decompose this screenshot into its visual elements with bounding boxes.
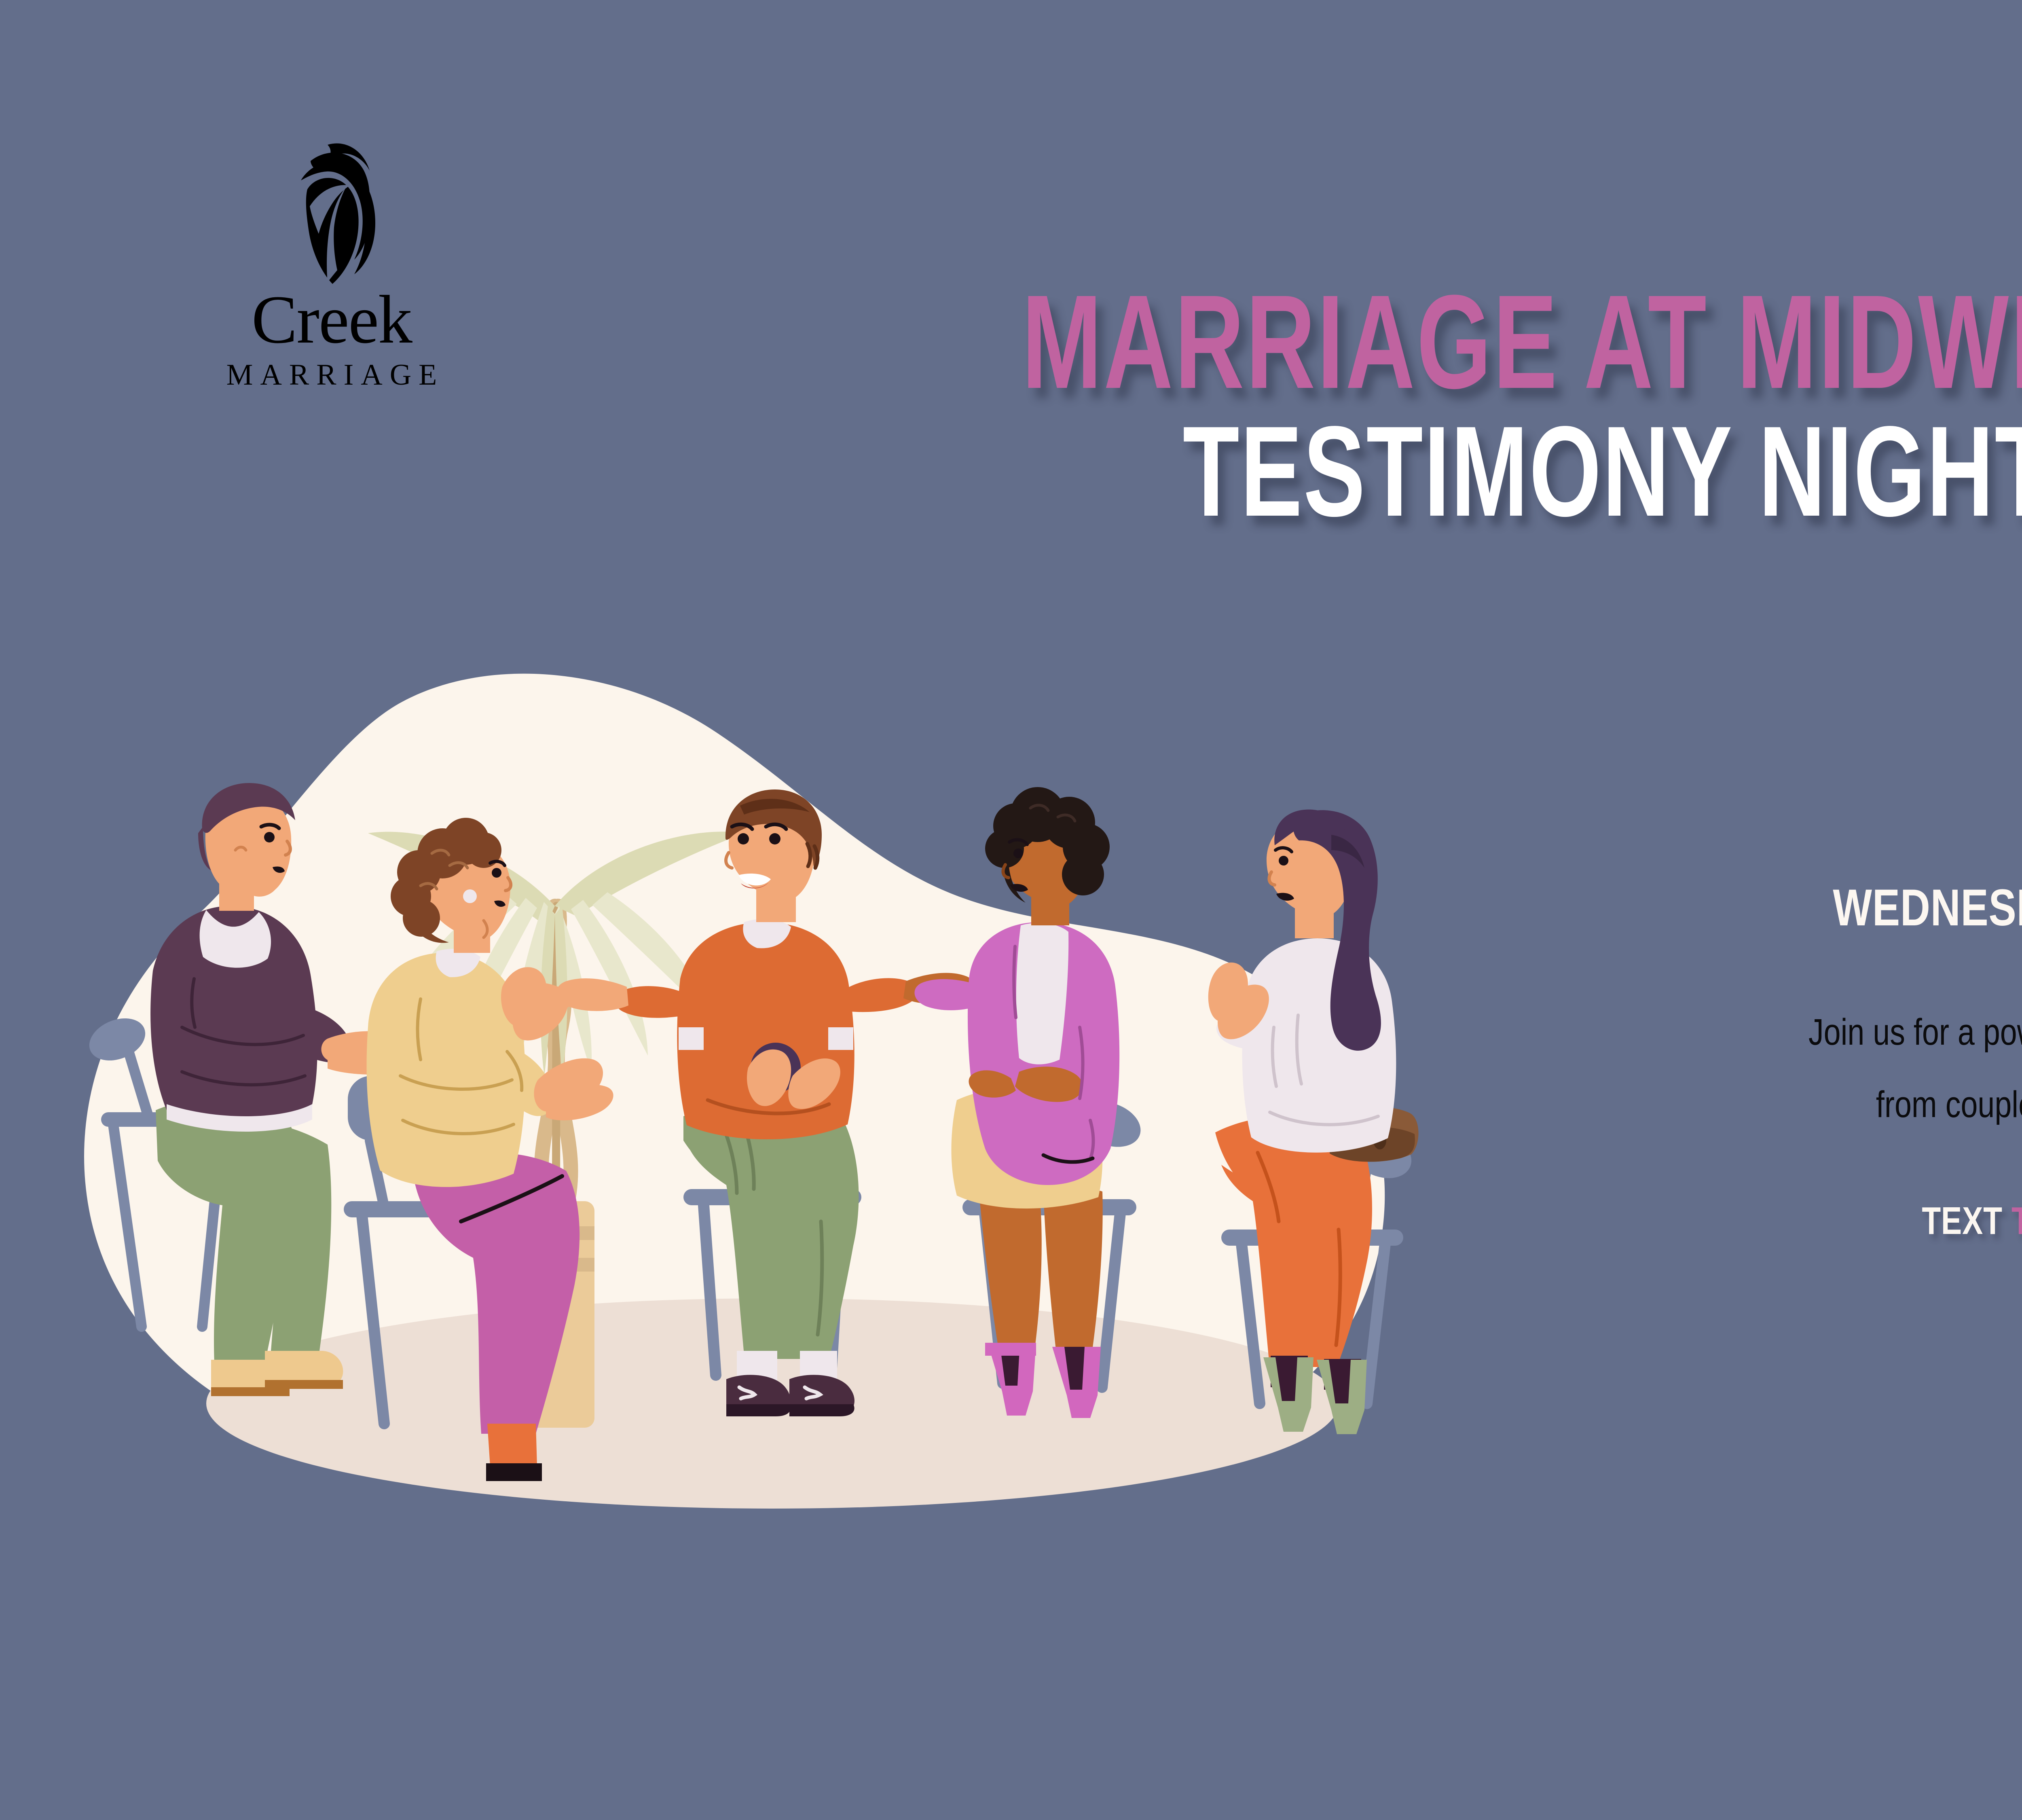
cta-prefix: TEXT xyxy=(1922,1199,2011,1242)
headline-line-1: MARRIAGE AT MIDWEEK xyxy=(453,283,2022,400)
event-description: Join us for a powerful night of real sto… xyxy=(1601,996,2022,1141)
headline-line-2: TESTIMONY NIGHT xyxy=(453,415,2022,528)
creek-flame-cross-icon xyxy=(267,142,400,287)
event-info-block: WEDNESDAY, DEC. 10 | 6:30 – 8 P.M. | A23… xyxy=(1456,882,2022,1240)
small-group-discussion-illustration xyxy=(61,663,1500,1545)
poster-canvas: Creek MARRIAGE MARRIAGE AT MIDWEEK TESTI… xyxy=(0,0,2022,1820)
cta-keyword: TESTIMONY xyxy=(2011,1199,2022,1242)
event-datetime-location: WEDNESDAY, DEC. 10 | 6:30 – 8 P.M. | A23… xyxy=(1618,882,2022,935)
headline-block: MARRIAGE AT MIDWEEK TESTIMONY NIGHT xyxy=(0,283,2022,528)
event-description-line-1: Join us for a powerful night of real sto… xyxy=(1601,996,2022,1069)
event-description-line-2: from couples who've seen God at work in … xyxy=(1601,1069,2022,1141)
text-to-join-cta: TEXT TESTIMONY TO 77978 FOR MORE INFO xyxy=(1618,1202,2022,1240)
